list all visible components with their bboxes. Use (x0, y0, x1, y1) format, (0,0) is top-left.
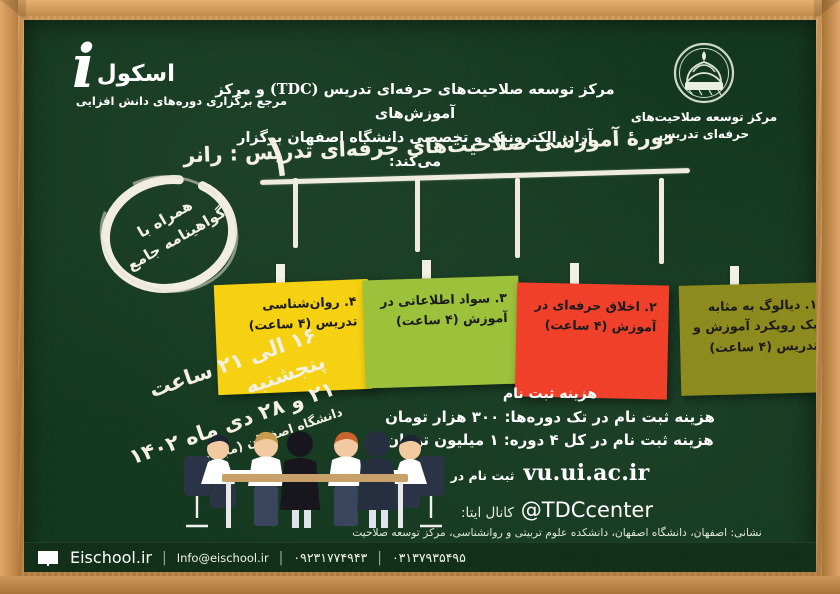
footer-email[interactable]: Info@eischool.ir (177, 551, 269, 565)
frame-bottom-edge (0, 576, 840, 594)
connector-line-1 (659, 178, 664, 264)
footer-website[interactable]: Eischool.ir (70, 548, 152, 567)
certificate-badge: همراه با گواهینامه جامع (86, 168, 256, 303)
poster-root: اسکول i مرجع برگزاری دوره‌های دانش افزای… (0, 0, 840, 594)
title-underline (260, 168, 690, 185)
header-line1-a: مرکز توسعه صلاحیت‌های حرفه‌ای تدریس (319, 82, 615, 98)
letter-i-logo-icon: i (72, 42, 93, 93)
footer-mobile-number[interactable]: ۰۹۲۳۱۷۷۴۹۴۳ (293, 550, 367, 565)
university-caption-line1: مرکز توسعه صلاحیت‌های (620, 109, 788, 126)
chalkboard: اسکول i مرجع برگزاری دوره‌های دانش افزای… (24, 20, 816, 572)
connector-line-4 (293, 178, 298, 248)
frame-left-edge (0, 0, 18, 594)
footer-separator-3: | (377, 550, 382, 566)
frame-top-edge (0, 0, 840, 16)
footer-separator-2: | (279, 550, 284, 566)
connector-line-2 (515, 178, 520, 258)
eita-handle[interactable]: @TDCcenter (521, 498, 653, 522)
registration-url[interactable]: vu.ui.ac.ir (524, 460, 650, 486)
registration-label: ثبت نام در (451, 468, 515, 483)
footer-phone-number[interactable]: ۰۳۱۳۷۹۳۵۴۹۵ (392, 550, 466, 565)
frame-right-edge (822, 0, 840, 594)
course-note-3[interactable]: ۳. سواد اطلاعاتی در آموزش (۴ ساعت) (362, 276, 521, 389)
footer-bar: Eischool.ir | Info@eischool.ir | ۰۹۲۳۱۷۷… (24, 542, 816, 572)
university-of-isfahan-seal-icon (673, 42, 735, 104)
eita-label: کانال ایتا: (461, 505, 514, 521)
connector-line-3 (415, 178, 420, 252)
brand-name: اسکول (97, 62, 175, 93)
open-book-icon (36, 548, 60, 568)
frame-corner-top-left (0, 0, 26, 20)
footer-separator-1: | (162, 550, 167, 566)
people-at-meeting-table-illustration (174, 422, 454, 534)
header-tdc-code: (TDC) (270, 81, 319, 98)
course-note-2[interactable]: ۲. اخلاق حرفه‌ای در آموزش (۴ ساعت) (515, 282, 669, 399)
course-note-1[interactable]: ۱. دیالوگ به مثابه یک رویکرد آموزش و تدر… (679, 282, 816, 396)
fees-title: هزینه ثبت نام (340, 386, 760, 402)
course-title-block: ۱ دورهٔ آموزشی صلاحیت‌های حرفه‌ای تدریس … (260, 126, 690, 184)
frame-corner-top-right (814, 0, 840, 20)
